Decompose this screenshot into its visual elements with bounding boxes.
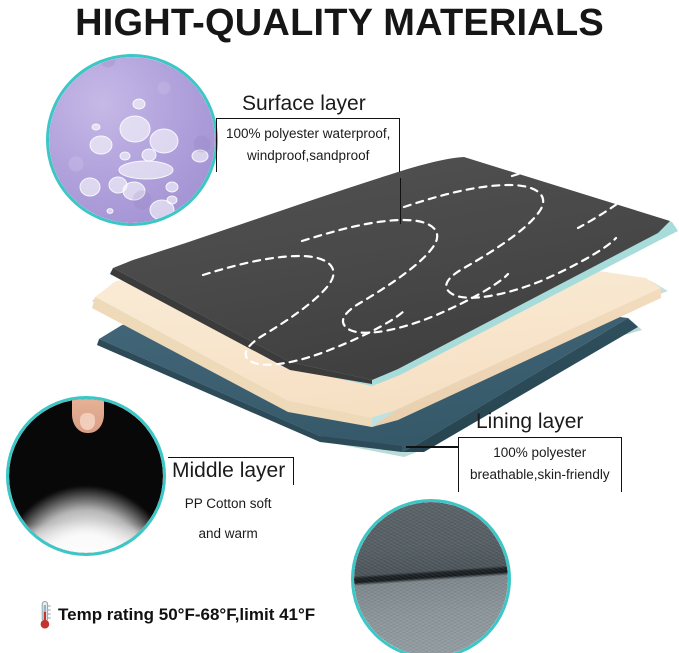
thermometer-icon: [38, 600, 52, 630]
lining-layer-description: 100% polyester breathable,skin-friendly: [458, 437, 622, 492]
cotton-fiber: [9, 448, 163, 553]
surface-layer-line-2: windproof,sandproof: [226, 145, 390, 167]
callout-surface-layer: Surface layer 100% polyester waterproof,…: [216, 92, 400, 172]
temperature-rating-text: Temp rating 50°F-68°F,limit 41°F: [58, 605, 315, 625]
callout-middle-layer: Middle layer PP Cotton soft and warm: [168, 457, 294, 545]
surface-layer-heading: Surface layer: [216, 92, 400, 115]
lining-layer-heading: Lining layer: [458, 410, 622, 433]
middle-layer-line-2: and warm: [168, 523, 294, 545]
fabric-texture: [49, 57, 215, 223]
fingernail: [80, 413, 95, 430]
lining-layer-leader-line: [406, 446, 459, 448]
lining-fabric-photo-image: [354, 502, 508, 653]
callout-lining-layer: Lining layer 100% polyester breathable,s…: [458, 410, 622, 492]
temperature-rating: Temp rating 50°F-68°F,limit 41°F: [38, 600, 315, 630]
middle-layer-heading: Middle layer: [172, 459, 285, 482]
surface-layer-line-1: 100% polyester waterproof,: [226, 123, 390, 145]
surface-layer-description: 100% polyester waterproof, windproof,san…: [216, 118, 400, 172]
fabric-weave-texture: [354, 502, 508, 653]
surface-layer-leader-line: [400, 178, 402, 224]
water-droplets-photo-image: [49, 57, 215, 223]
pp-cotton-photo: [6, 396, 166, 556]
middle-layer-heading-box: Middle layer: [168, 457, 294, 485]
product-infographic: HIGHT-QUALITY MATERIALS: [0, 0, 679, 653]
middle-layer-line-1: PP Cotton soft: [168, 493, 294, 515]
lining-fabric-photo: [351, 499, 511, 653]
lining-layer-line-1: 100% polyester: [470, 442, 610, 464]
water-droplets-photo: [46, 54, 218, 226]
lining-layer-line-2: breathable,skin-friendly: [470, 464, 610, 486]
pp-cotton-photo-image: [9, 399, 163, 553]
